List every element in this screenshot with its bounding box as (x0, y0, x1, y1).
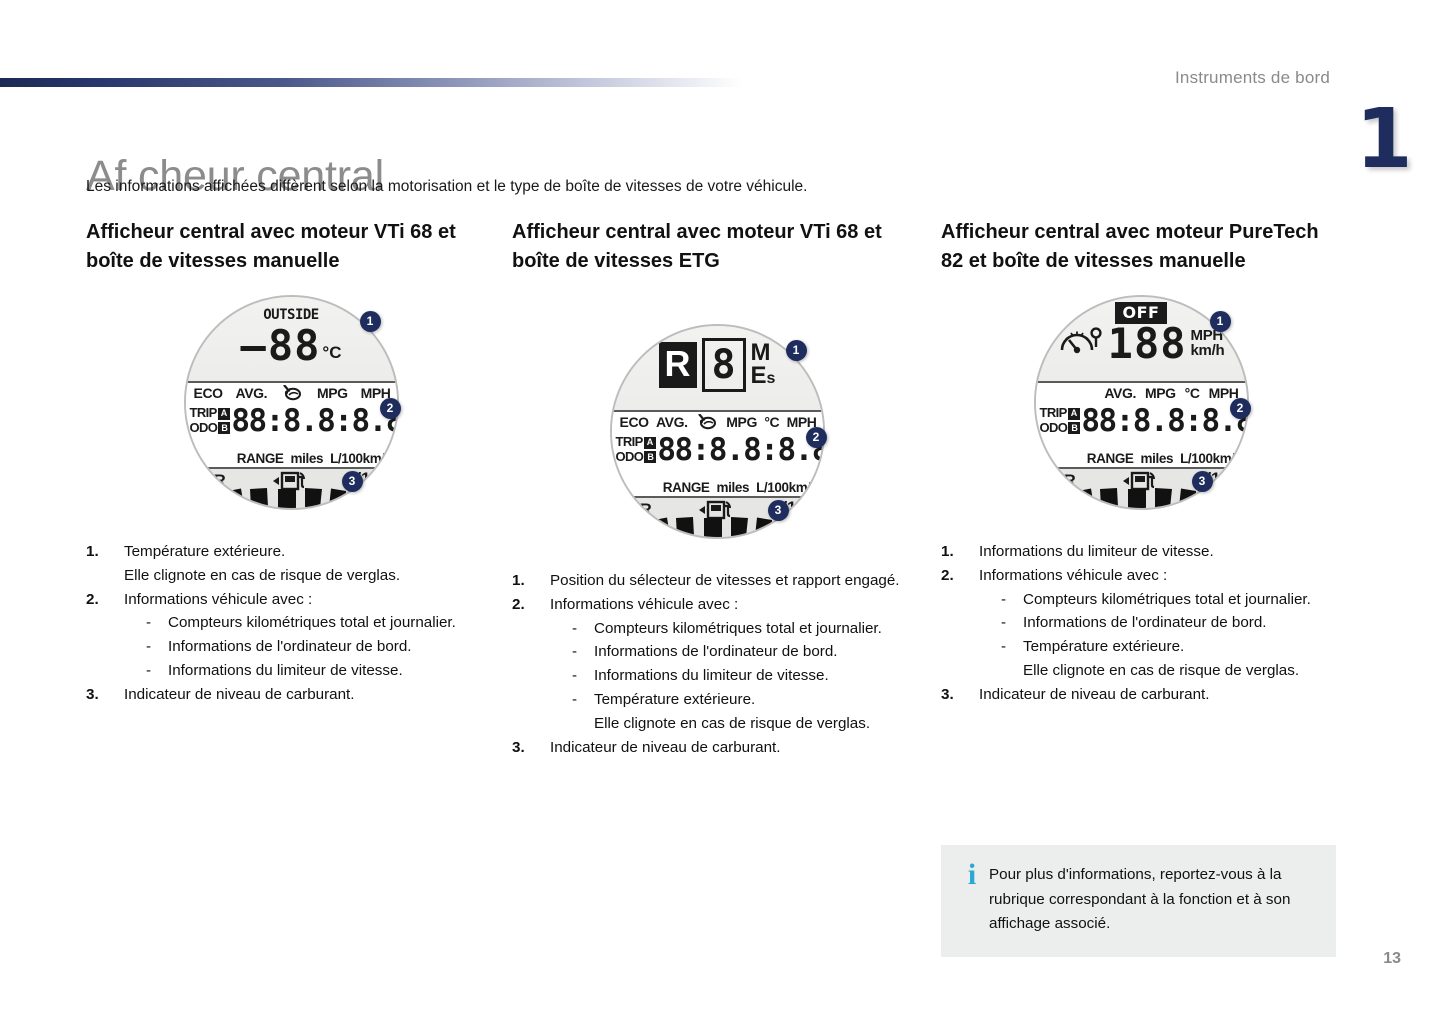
fuel-level-bars (1036, 485, 1247, 508)
notes-list-column-3: 1. Informations du limiteur de vitesse. … (941, 540, 1341, 707)
mpg-label: MPG (1145, 385, 1176, 401)
sub-list-item: -Compteurs kilométriques total et journa… (1001, 588, 1341, 612)
sub-text: Informations du limiteur de vitesse. (594, 664, 922, 688)
odometer-digits: 88:8.8:8.8 (657, 432, 822, 468)
lcd-zone-temperature: OUTSIDE – 88 °C (186, 297, 397, 381)
consumption-label: L/100km/h (1180, 451, 1242, 466)
note-number: 3. (512, 736, 550, 760)
notes-list-column-2: 1. Position du sélecteur de vitesses et … (512, 569, 922, 760)
callout-badge-1: 1 (1210, 311, 1231, 332)
note-text: Informations du limiteur de vitesse. (979, 540, 1341, 564)
odometer-row: TRIPA ODOB 88:8.8:8.8 (1040, 403, 1245, 439)
sub-dash: - (1001, 611, 1023, 635)
odometer-row: TRIPA ODOB 88:8.8:8.8 (616, 432, 821, 468)
range-label: RANGE (1087, 451, 1134, 466)
note-text: Indicateur de niveau de carburant. (979, 683, 1341, 707)
mid-label-row: AVG. MPG °C MPH (1044, 385, 1241, 401)
list-item: 2. Informations véhicule avec : -Compteu… (86, 588, 496, 683)
note-text: Informations véhicule avec : (550, 596, 738, 613)
note-number: 1. (86, 540, 124, 564)
trip-a-box: A (218, 408, 230, 420)
info-icon: i (955, 863, 989, 888)
miles-label: miles (291, 451, 324, 466)
temperature-sign: – (241, 326, 266, 366)
sub-dash: - (572, 688, 594, 712)
note-text: Informations véhicule avec : (124, 591, 312, 608)
sub-list-item: -Informations du limiteur de vitesse. (572, 664, 922, 688)
range-row: RANGE miles L/100km/h (1036, 451, 1243, 466)
odo-label: ODO (616, 450, 644, 465)
lcd-zone-vehicle-info: ECO AVG. MPG MPH (186, 383, 397, 467)
miles-label: miles (717, 480, 750, 495)
trip-a-box: A (1068, 408, 1080, 420)
note-body: Température extérieure. Elle clignote en… (124, 540, 496, 588)
note-text: Indicateur de niveau de carburant. (550, 736, 922, 760)
mpg-label: MPG (726, 414, 757, 430)
odo-label: ODO (190, 421, 218, 436)
eco-label: ECO (620, 414, 649, 430)
temperature-unit: °C (322, 343, 341, 363)
sub-text: Informations du limiteur de vitesse. (168, 659, 496, 683)
sub-text: Informations de l'ordinateur de bord. (594, 640, 922, 664)
note-number: 3. (941, 683, 979, 707)
list-item: 1. Température extérieure. Elle clignote… (86, 540, 496, 588)
note-number: 2. (86, 588, 124, 612)
sub-list-item: -Informations de l'ordinateur de bord. (572, 640, 922, 664)
section-title: Instruments de bord (1175, 68, 1330, 88)
odometer-row: TRIPA ODOB 88:8.8:8.8 (190, 403, 395, 439)
lcd-zone-vehicle-info: AVG. MPG °C MPH TRIPA ODOB 88:8.8:8.8 RA… (1036, 383, 1247, 467)
unit-kmh: km/h (1191, 343, 1225, 358)
column-heading: Afficheur central avec moteur PureTech 8… (941, 218, 1341, 277)
sub-body-wrap: Température extérieure.Elle clignote en … (594, 688, 922, 736)
lcd-display-outside-temp: OUTSIDE – 88 °C ECO AVG. (184, 295, 399, 510)
callout-badge-2: 2 (1230, 398, 1251, 419)
trip-b-box: B (644, 451, 656, 463)
note-number: 1. (512, 569, 550, 593)
callout-badge-1: 1 (786, 340, 807, 361)
callout-badge-3: 3 (768, 500, 789, 521)
list-item: 2. Informations véhicule avec : -Compteu… (512, 593, 922, 736)
celsius-label: °C (1185, 385, 1200, 401)
note-body: Informations véhicule avec : -Compteurs … (124, 588, 496, 683)
lcd-zone-fuel-gauge: R 1/1 (1036, 469, 1247, 508)
avg-label: AVG. (236, 385, 268, 401)
eco-sport-mode-label: Es (751, 365, 776, 388)
column-vti68-manual: Afficheur central avec moteur VTi 68 et … (86, 218, 496, 707)
note-text: Température extérieure. (124, 543, 285, 560)
list-item: 3. Indicateur de niveau de carburant. (512, 736, 922, 760)
sub-text: Température extérieure. (1023, 638, 1184, 655)
sub-list-item: -Compteurs kilométriques total et journa… (146, 611, 496, 635)
trip-odo-labels: TRIPA ODOB (616, 435, 657, 464)
sub-dash: - (146, 611, 168, 635)
sub-text: Informations de l'ordinateur de bord. (168, 635, 496, 659)
celsius-label: °C (764, 414, 779, 430)
list-item: 2. Informations véhicule avec : -Compteu… (941, 564, 1341, 683)
trip-odo-labels: TRIPA ODOB (190, 406, 231, 435)
sub-list-item: -Informations de l'ordinateur de bord. (1001, 611, 1341, 635)
sub-dash: - (146, 659, 168, 683)
notes-list-column-1: 1. Température extérieure. Elle clignote… (86, 540, 496, 707)
sub-text: Température extérieure. (594, 691, 755, 708)
trip-a-box: A (644, 437, 656, 449)
note-text: Indicateur de niveau de carburant. (124, 683, 496, 707)
mph-label: MPH (1209, 385, 1239, 401)
odometer-digits: 88:8.8:8.8 (231, 403, 396, 439)
sub-body-wrap: Température extérieure.Elle clignote en … (1023, 635, 1341, 683)
note-number: 2. (512, 593, 550, 617)
lcd-zone-fuel-gauge: R 1/1 (612, 498, 823, 537)
list-item: 1. Position du sélecteur de vitesses et … (512, 569, 922, 593)
sub-dash: - (572, 617, 594, 641)
eco-leaf-gauge-icon (695, 414, 719, 429)
column-heading: Afficheur central avec moteur VTi 68 et … (86, 218, 496, 277)
limiter-speed-value: 188 (1108, 324, 1187, 364)
range-row: RANGE miles L/100km/h (186, 451, 393, 466)
sub-dash: - (146, 635, 168, 659)
trip-label: TRIP (1040, 406, 1067, 421)
trip-b-box: B (1068, 422, 1080, 434)
sub-text: Compteurs kilométriques total et journal… (1023, 588, 1341, 612)
trip-label: TRIP (616, 435, 643, 450)
lcd-zone-vehicle-info: ECO AVG. MPG °C MPH (612, 412, 823, 496)
page-subtitle: Les informations affichées diffèrent sel… (86, 178, 807, 196)
lcd-display-gear-selector: R 8 M Es ECO AVG. (610, 324, 825, 539)
sub-text: Informations de l'ordinateur de bord. (1023, 611, 1341, 635)
gear-mode-labels: M Es (751, 342, 776, 388)
lcd-zone-gear: R 8 M Es (612, 326, 823, 410)
column-vti68-etg: Afficheur central avec moteur VTi 68 et … (512, 218, 922, 760)
sub-list-item: -Température extérieure.Elle clignote en… (1001, 635, 1341, 683)
eco-label: ECO (194, 385, 223, 401)
note-body: Informations véhicule avec : -Compteurs … (550, 593, 922, 736)
note-number: 3. (86, 683, 124, 707)
note-body: Informations véhicule avec : -Compteurs … (979, 564, 1341, 683)
mpg-label: MPG (317, 385, 348, 401)
gear-selector-letter: R (659, 342, 697, 388)
avg-label: AVG. (656, 414, 688, 430)
callout-badge-2: 2 (380, 398, 401, 419)
note-number: 2. (941, 564, 979, 588)
speedometer-key-icon (1058, 324, 1104, 363)
sub-list-item: -Compteurs kilométriques total et journa… (572, 617, 922, 641)
fuel-level-bars (186, 485, 397, 508)
sub-text: Compteurs kilométriques total et journal… (168, 611, 496, 635)
sub-dash: - (572, 664, 594, 688)
mid-label-row: ECO AVG. MPG °C MPH (620, 414, 817, 430)
fuel-level-bars (612, 514, 823, 537)
lcd-display-speed-limiter: OFF 188 (1034, 295, 1249, 510)
sub-continuation: Elle clignote en cas de risque de vergla… (1023, 659, 1341, 683)
consumption-label: L/100km/h (330, 451, 392, 466)
mid-label-row: ECO AVG. MPG MPH (194, 385, 391, 401)
range-label: RANGE (663, 480, 710, 495)
odo-label: ODO (1040, 421, 1068, 436)
list-item: 3. Indicateur de niveau de carburant. (86, 683, 496, 707)
sub-list-item: -Température extérieure.Elle clignote en… (572, 688, 922, 736)
info-text: Pour plus d'informations, reportez-vous … (989, 863, 1320, 937)
lcd-zone-speed-limiter: OFF 188 (1036, 297, 1247, 381)
temperature-readout: – 88 °C (186, 326, 397, 366)
list-item: 1. Informations du limiteur de vitesse. (941, 540, 1341, 564)
sub-list-item: -Informations du limiteur de vitesse. (146, 659, 496, 683)
lcd-zone-fuel-gauge: R 1/1 (186, 469, 397, 508)
consumption-label: L/100km/h (756, 480, 818, 495)
list-item: 3. Indicateur de niveau de carburant. (941, 683, 1341, 707)
column-heading: Afficheur central avec moteur VTi 68 et … (512, 218, 922, 277)
sub-dash: - (572, 640, 594, 664)
chapter-number-tab: 1 (1367, 100, 1401, 180)
trip-b-box: B (218, 422, 230, 434)
sub-list-item: -Informations de l'ordinateur de bord. (146, 635, 496, 659)
callout-badge-1: 1 (360, 311, 381, 332)
callout-badge-3: 3 (1192, 471, 1213, 492)
callout-badge-3: 3 (342, 471, 363, 492)
note-text: Informations véhicule avec : (979, 567, 1167, 584)
note-number: 1. (941, 540, 979, 564)
avg-label: AVG. (1104, 385, 1136, 401)
note-continuation: Elle clignote en cas de risque de vergla… (124, 564, 496, 588)
sub-continuation: Elle clignote en cas de risque de vergla… (594, 712, 922, 736)
trip-label: TRIP (190, 406, 217, 421)
callout-badge-2: 2 (806, 427, 827, 448)
trip-odo-labels: TRIPA ODOB (1040, 406, 1081, 435)
header-gradient-rule (0, 78, 742, 87)
limiter-units: MPH km/h (1191, 328, 1225, 359)
eco-leaf-gauge-icon (280, 385, 304, 400)
column-puretech82-manual: Afficheur central avec moteur PureTech 8… (941, 218, 1341, 707)
page-number: 13 (1383, 950, 1401, 968)
range-row: RANGE miles L/100km/h (612, 480, 819, 495)
sub-dash: - (1001, 635, 1023, 659)
miles-label: miles (1141, 451, 1174, 466)
sub-dash: - (1001, 588, 1023, 612)
engaged-gear-digit: 8 (702, 338, 746, 392)
range-label: RANGE (237, 451, 284, 466)
sub-text: Compteurs kilométriques total et journal… (594, 617, 922, 641)
temperature-value: 88 (268, 326, 321, 366)
note-text: Position du sélecteur de vitesses et rap… (550, 569, 922, 593)
info-callout-box: i Pour plus d'informations, reportez-vou… (941, 845, 1336, 957)
odometer-digits: 88:8.8:8.8 (1081, 403, 1246, 439)
